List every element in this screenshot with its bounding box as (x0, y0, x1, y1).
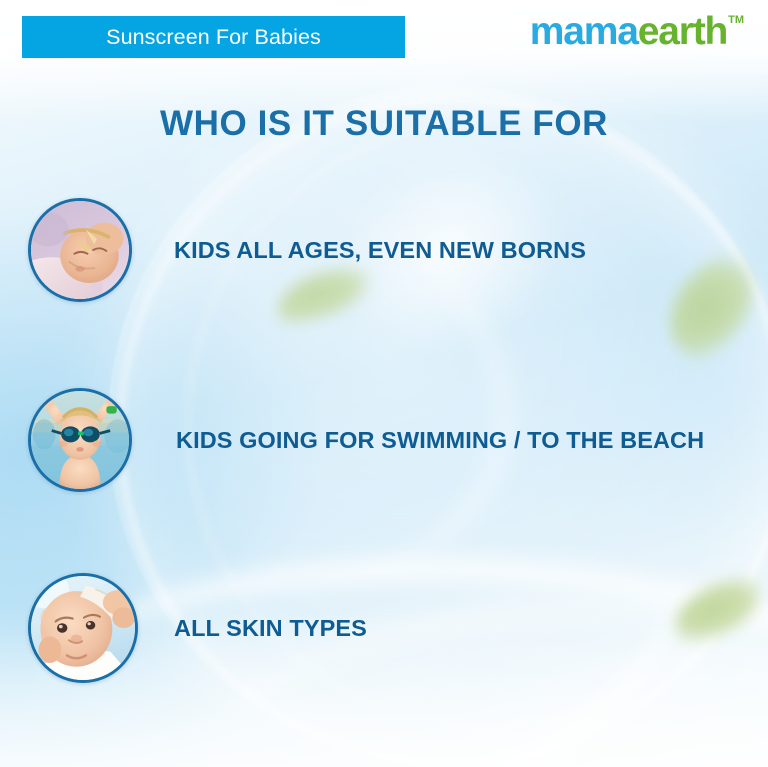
trademark-symbol: TM (728, 15, 744, 26)
brand-logo: mama earth TM (530, 12, 744, 51)
list-item-label: ALL SKIN TYPES (174, 615, 367, 642)
brand-logo-earth: earth (638, 12, 727, 51)
category-ribbon: Sunscreen For Babies (22, 16, 405, 58)
photo-baby-skin-care (28, 573, 138, 683)
list-item: ALL SKIN TYPES (0, 573, 768, 683)
category-ribbon-label: Sunscreen For Babies (106, 25, 321, 50)
list-item-label: KIDS GOING FOR SWIMMING / TO THE BEACH (176, 427, 704, 454)
photo-newborn-baby (28, 198, 132, 302)
list-item-label: KIDS ALL AGES, EVEN NEW BORNS (174, 237, 586, 264)
list-item: KIDS ALL AGES, EVEN NEW BORNS (0, 198, 768, 302)
page-title: WHO IS IT SUITABLE FOR (0, 104, 768, 144)
list-item: KIDS GOING FOR SWIMMING / TO THE BEACH (0, 388, 768, 492)
brand-logo-mama: mama (530, 12, 638, 51)
photo-boy-swimming-goggles (28, 388, 132, 492)
poster-canvas: Sunscreen For Babies mama earth TM WHO I… (0, 0, 768, 767)
